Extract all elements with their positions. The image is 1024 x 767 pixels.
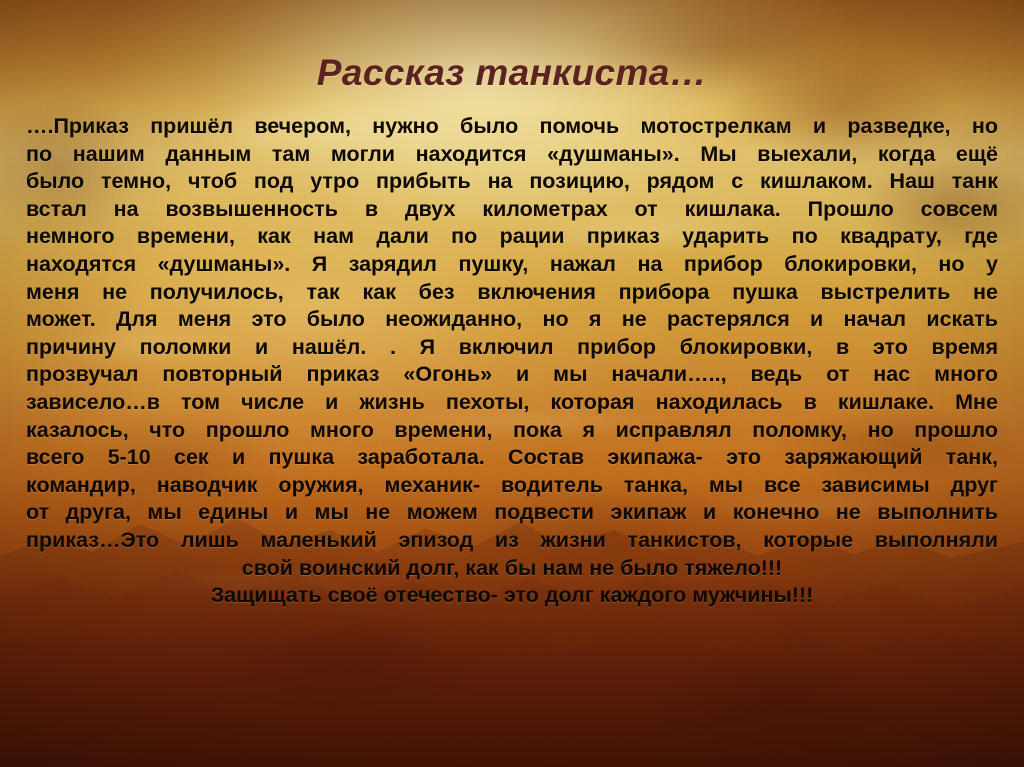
story-line: меня не получилось, так как без включени… — [26, 279, 998, 307]
story-line-text: от друга, мы едины и мы не можем подвест… — [26, 499, 998, 527]
story-line-text: может. Для меня это было неожиданно, но … — [26, 306, 998, 334]
story-line: находятся «душманы». Я зарядил пушку, на… — [26, 251, 998, 279]
story-line: было темно, чтоб под утро прибыть на поз… — [26, 168, 998, 196]
story-line: прозвучал повторный приказ «Огонь» и мы … — [26, 361, 998, 389]
story-line-text: по нашим данным там могли находится «душ… — [26, 141, 998, 169]
story-line: немного времени, как нам дали по рации п… — [26, 223, 998, 251]
story-text-block: ….Приказ пришёл вечером, нужно было помо… — [26, 113, 998, 610]
story-line: может. Для меня это было неожиданно, но … — [26, 306, 998, 334]
story-line-text: было темно, чтоб под утро прибыть на поз… — [26, 168, 998, 196]
story-line: от друга, мы едины и мы не можем подвест… — [26, 499, 998, 527]
slide-title: Рассказ танкиста… — [0, 52, 1024, 94]
slide-canvas: Рассказ танкиста… ….Приказ пришёл вечеро… — [0, 0, 1024, 767]
story-line: по нашим данным там могли находится «душ… — [26, 141, 998, 169]
story-line-text: находятся «душманы». Я зарядил пушку, на… — [26, 251, 998, 279]
story-line: встал на возвышенность в двух километрах… — [26, 196, 998, 224]
story-line: свой воинский долг, как бы нам не было т… — [26, 555, 998, 583]
story-line-text: причину поломки и нашёл. . Я включил при… — [26, 334, 998, 362]
story-line: ….Приказ пришёл вечером, нужно было помо… — [26, 113, 998, 141]
story-line-text: командир, наводчик оружия, механик- води… — [26, 472, 998, 500]
story-line-text: всего 5-10 сек и пушка заработала. Соста… — [26, 444, 998, 472]
slide-content: Рассказ танкиста… ….Приказ пришёл вечеро… — [0, 0, 1024, 767]
story-line-text: немного времени, как нам дали по рации п… — [26, 223, 998, 251]
story-line: приказ…Это лишь маленький эпизод из жизн… — [26, 527, 998, 555]
story-line: Защищать своё отечество- это долг каждог… — [26, 582, 998, 610]
story-line: зависело…в том числе и жизнь пехоты, кот… — [26, 389, 998, 417]
story-line-text: меня не получилось, так как без включени… — [26, 279, 998, 307]
story-line-text: приказ…Это лишь маленький эпизод из жизн… — [26, 527, 998, 555]
story-line-text: прозвучал повторный приказ «Огонь» и мы … — [26, 361, 998, 389]
story-line: командир, наводчик оружия, механик- води… — [26, 472, 998, 500]
story-line-text: казалось, что прошло много времени, пока… — [26, 417, 998, 445]
story-line: всего 5-10 сек и пушка заработала. Соста… — [26, 444, 998, 472]
story-line-text: ….Приказ пришёл вечером, нужно было помо… — [26, 113, 998, 141]
story-line: казалось, что прошло много времени, пока… — [26, 417, 998, 445]
story-line-text: встал на возвышенность в двух километрах… — [26, 196, 998, 224]
story-line-text: зависело…в том числе и жизнь пехоты, кот… — [26, 389, 998, 417]
story-line: причину поломки и нашёл. . Я включил при… — [26, 334, 998, 362]
